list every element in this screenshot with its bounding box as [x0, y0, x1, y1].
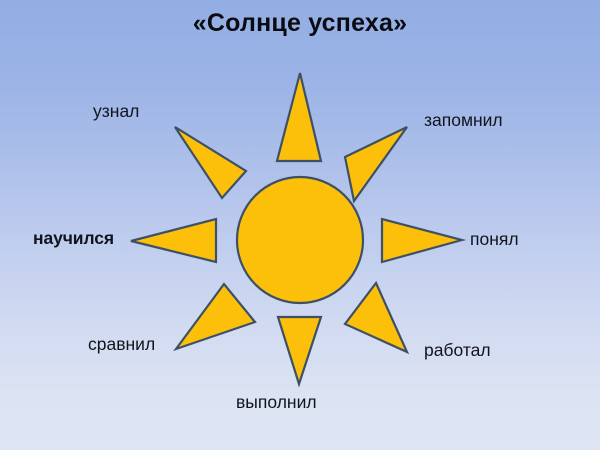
ray-vypolnil[interactable]	[278, 317, 321, 384]
ray-top[interactable]	[277, 73, 321, 161]
ray-ponyal[interactable]	[382, 219, 462, 262]
ray-rabotal[interactable]	[345, 283, 407, 352]
ray-label-uznal: узнал	[93, 103, 139, 121]
ray-label-zapomnil: запомнил	[424, 112, 503, 130]
ray-label-rabotal: работал	[424, 342, 491, 360]
slide-canvas: «Солнце успеха» узнал запомнил понял	[0, 0, 600, 450]
ray-sravnil[interactable]	[176, 284, 255, 349]
ray-label-nauchilsya: научился	[33, 230, 114, 248]
ray-label-vypolnil: выполнил	[236, 394, 317, 412]
ray-nauchilsya[interactable]	[131, 219, 216, 262]
ray-zapomnil[interactable]	[345, 127, 407, 201]
sun-center-circle[interactable]	[237, 177, 363, 303]
ray-uznal[interactable]	[175, 127, 246, 198]
ray-label-ponyal: понял	[470, 231, 519, 249]
sun-diagram	[0, 0, 600, 450]
ray-label-sravnil: сравнил	[88, 336, 155, 354]
